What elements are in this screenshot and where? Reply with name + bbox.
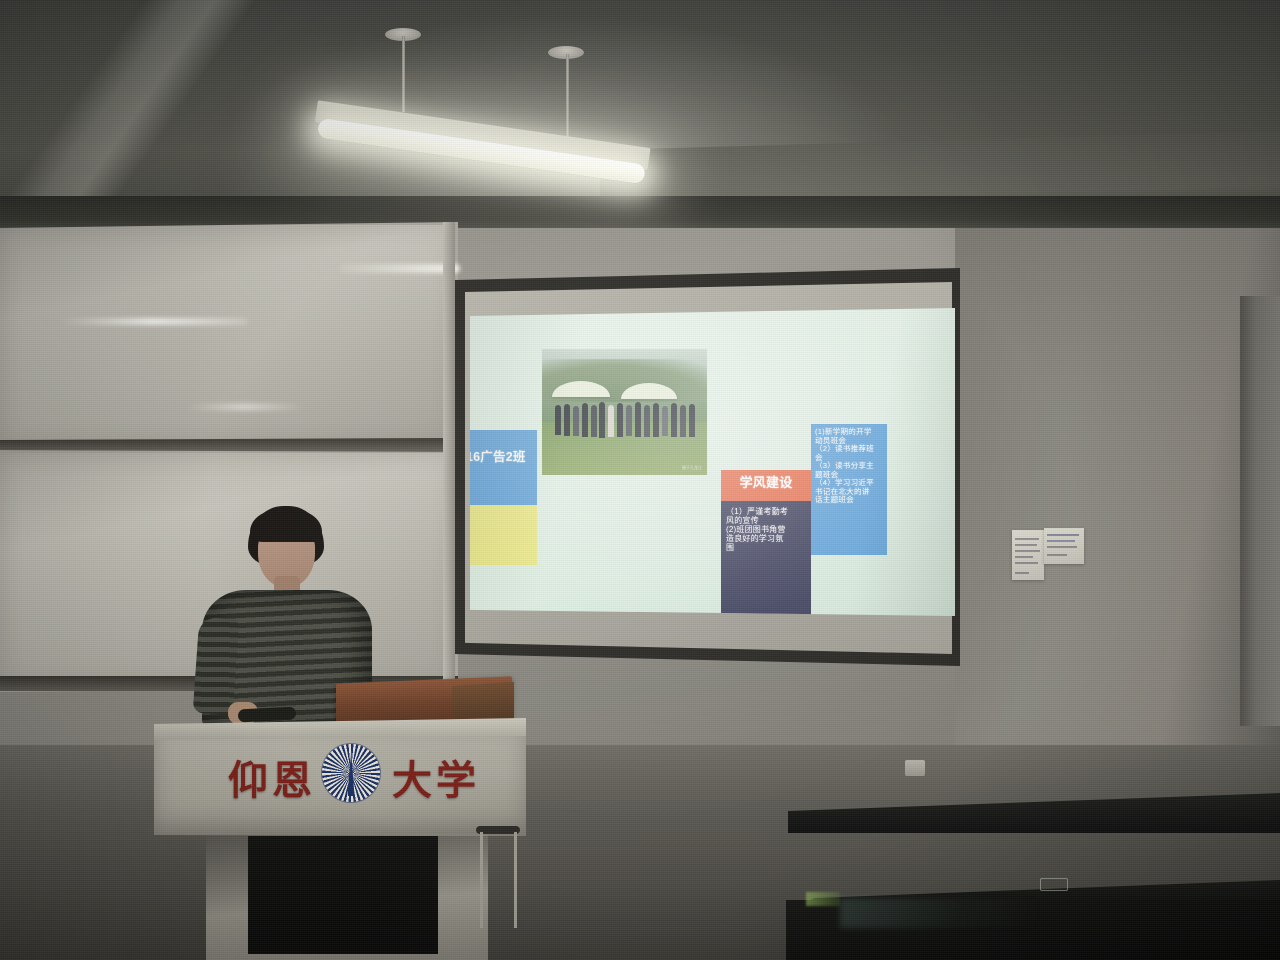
right-wall [955,228,1280,788]
presenter-left-arm [193,617,240,716]
line: 围 [726,544,808,553]
presenter-fringe [250,510,322,542]
university-sunburst-logo [322,744,380,802]
lamp-rod-left [402,36,405,112]
right-wall-edge [1240,296,1280,726]
wall-notice-1 [1012,530,1044,580]
whiteboard-reflection-1 [58,318,248,325]
lamp-rod-right [566,54,569,138]
whiteboard-frame-divider [443,222,455,688]
podium-cavity [248,836,438,954]
photo-crowd [552,399,701,442]
chair-leg [514,832,517,928]
slide-class-label: 16广告2班 [470,450,548,464]
whiteboard-tray-upper [0,438,452,452]
podium-university-name-left: 仰恩 [228,748,316,806]
whiteboard-upper-panel [0,222,458,450]
desk-sticker-green [806,892,840,906]
line: 造良好的学习氛 [726,535,808,544]
chair-leg [480,832,483,928]
slide-block-class-tag [470,430,537,505]
slide-text-xuefeng-body: （1）严谨考勤考 风的宣传 (2)班团图书角营 造良好的学习氛 围 [726,508,808,553]
whiteboard-reflection-3 [340,264,460,273]
projected-slide: 16广告2班 [470,308,955,616]
desk-sticker [1040,878,1068,891]
class-group-photo: 摄于九龙江 [542,349,707,475]
slide-block-yellow-left [470,505,537,565]
podium-university-name-right: 大学 [392,748,480,806]
slide-label-xuefeng: 学风建设 [721,476,811,491]
whiteboard-reflection-2 [185,404,305,410]
photo-watermark: 摄于九龙江 [682,465,702,471]
wall-socket [905,760,925,776]
classroom-photo: 16广告2班 [0,0,1280,960]
chair[interactable] [470,826,526,930]
line: 话主题班会 [815,496,885,505]
slide-text-banhui-list: (1)新学期的开学 动员班会 （2）读书推荐班 会 （3）读书分享主 题班会 （… [815,428,885,505]
wall-notice-2 [1044,528,1084,564]
line: （2）读书推荐班 [815,445,885,454]
desk-reflection [840,898,1040,928]
